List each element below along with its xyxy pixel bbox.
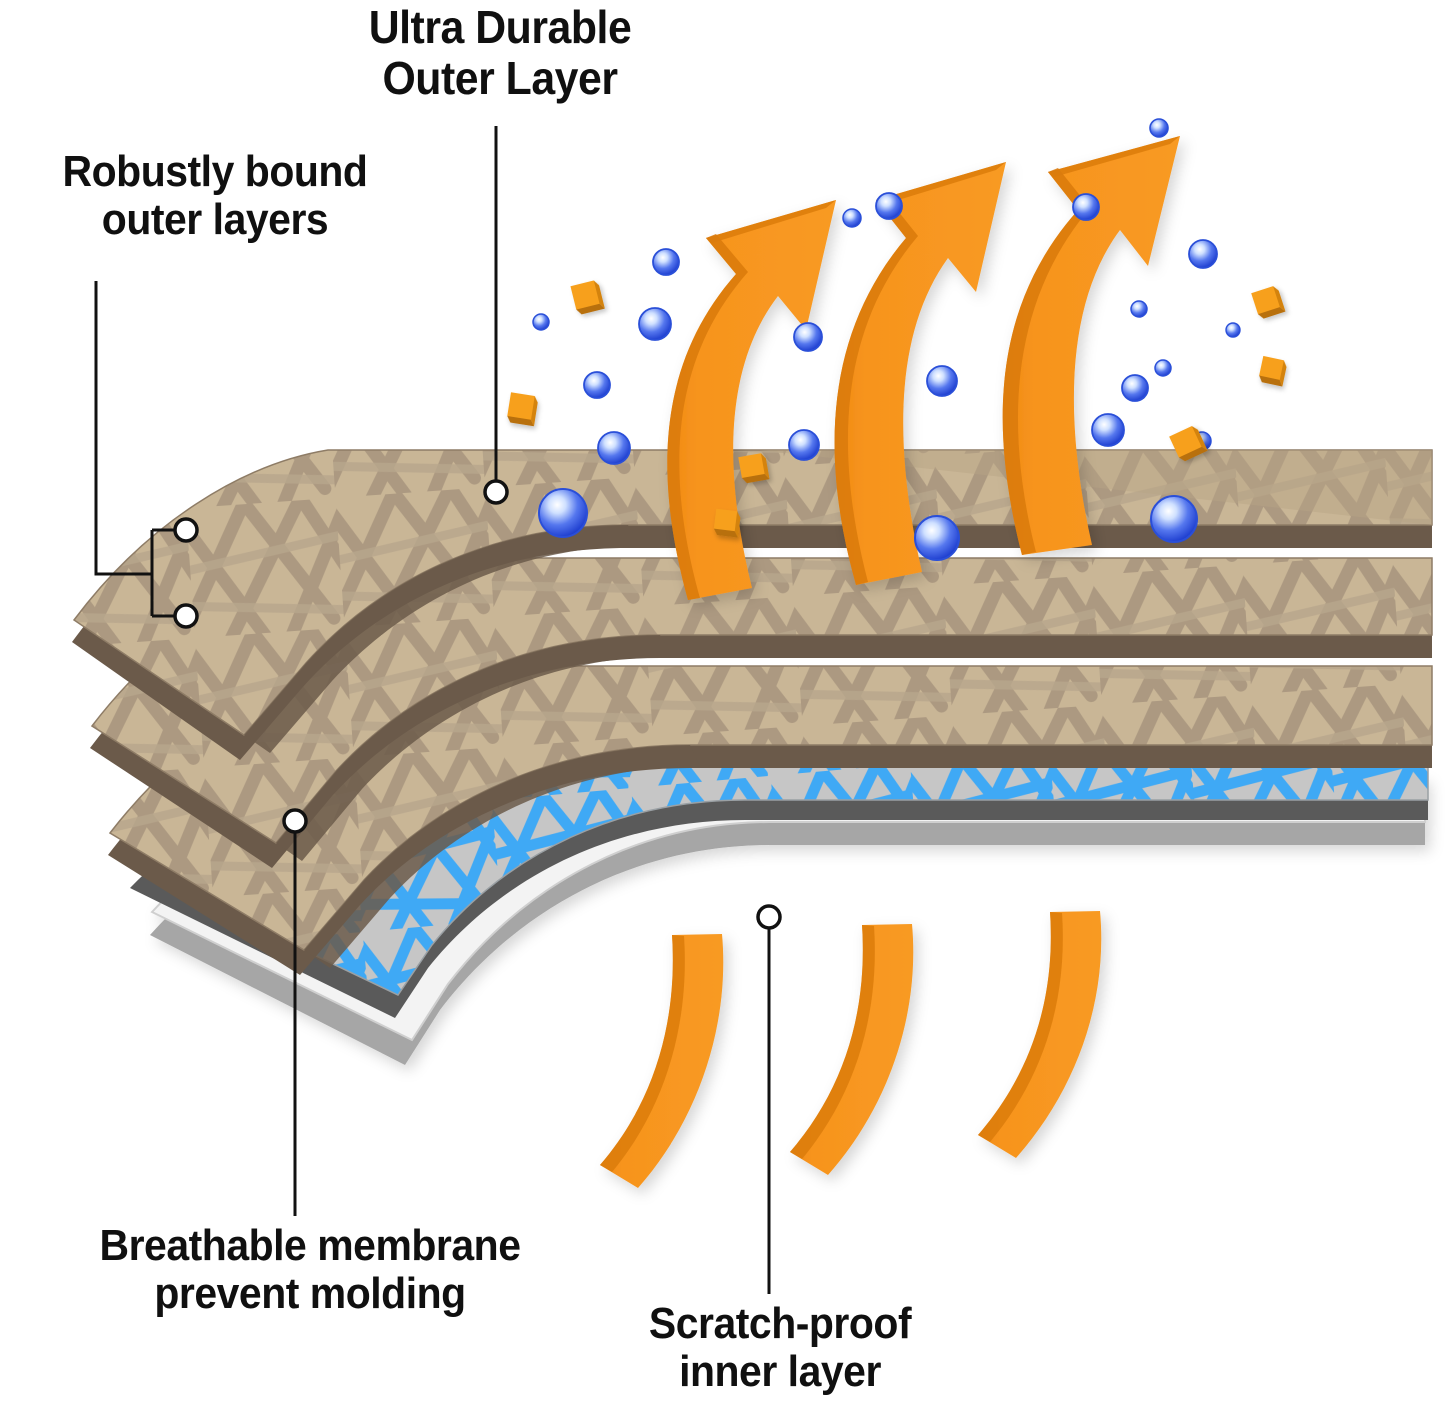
moisture-droplet-icon [539, 489, 587, 537]
moisture-droplet-icon [843, 209, 861, 227]
leader-endpoint-circle-icon [175, 605, 197, 627]
leader-endpoint-circle-icon [758, 906, 780, 928]
moisture-droplet-icon [1092, 414, 1124, 446]
leader-endpoint-circle-icon [485, 481, 507, 503]
moisture-droplet-icon [789, 430, 819, 460]
moisture-droplet-icon [876, 193, 902, 219]
label-robustly-bound-outer-layers: Robustly bound outer layers [15, 148, 415, 245]
label-breathable-membrane: Breathable membrane prevent molding [22, 1222, 599, 1319]
label-scratch-proof-inner-layer: Scratch-proof inner layer [599, 1300, 962, 1397]
moisture-droplet-icon [598, 432, 630, 464]
leader-endpoint-circle-icon [175, 519, 197, 541]
moisture-droplet-icon [1073, 194, 1099, 220]
moisture-droplet-icon [584, 372, 610, 398]
moisture-droplet-icon [915, 516, 959, 560]
label-ultra-durable-outer-layer: Ultra Durable Outer Layer [314, 2, 686, 103]
moisture-droplet-icon [1122, 375, 1148, 401]
moisture-droplet-icon [1226, 323, 1240, 337]
moisture-droplet-icon [1131, 301, 1147, 317]
dirt-particle-cube-icon [506, 392, 538, 426]
moisture-droplet-icon [653, 249, 679, 275]
dirt-particle-cube-icon [713, 509, 741, 538]
moisture-droplet-icon [533, 314, 549, 330]
leader-endpoint-circle-icon [284, 810, 306, 832]
moisture-droplet-icon [794, 323, 822, 351]
moisture-droplet-icon [639, 308, 671, 340]
moisture-droplet-icon [1155, 360, 1171, 376]
moisture-droplet-icon [1151, 496, 1197, 542]
moisture-droplet-icon [927, 366, 957, 396]
moisture-droplet-icon [1150, 119, 1168, 137]
dirt-particle-cube-icon [1258, 356, 1288, 387]
moisture-droplet-icon [1189, 240, 1217, 268]
diagram-canvas: Ultra Durable Outer Layer Robustly bound… [0, 0, 1445, 1421]
